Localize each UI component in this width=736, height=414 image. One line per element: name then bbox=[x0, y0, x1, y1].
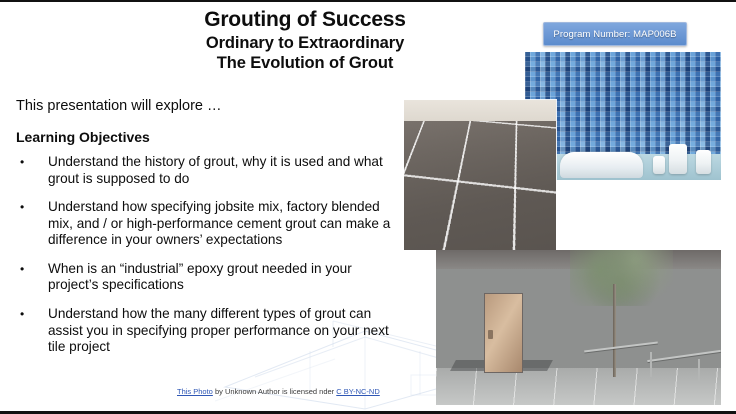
bronze-door bbox=[484, 293, 523, 373]
slide-subtitle-2: The Evolution of Grout bbox=[120, 53, 490, 74]
list-item-text: Understand how the many different types … bbox=[48, 306, 389, 354]
learning-objectives-list: • Understand the history of grout, why i… bbox=[16, 154, 396, 368]
tree-canopy bbox=[570, 250, 673, 306]
floor-tile-grid bbox=[404, 121, 556, 250]
bullet-marker-icon: • bbox=[20, 262, 24, 277]
list-item-text: When is an “industrial” epoxy grout need… bbox=[48, 261, 352, 293]
list-item: • Understand how specifying jobsite mix,… bbox=[16, 199, 396, 249]
white-jar bbox=[696, 150, 711, 174]
intro-text: This presentation will explore … bbox=[16, 98, 222, 114]
slide-title-block: Grouting of Success Ordinary to Extraord… bbox=[120, 8, 490, 74]
bullet-marker-icon: • bbox=[20, 155, 24, 170]
page-title: Grouting of Success bbox=[120, 8, 490, 33]
program-number-badge: Program Number: MAP006B bbox=[543, 22, 687, 46]
handrail-post bbox=[698, 359, 700, 384]
this-photo-link[interactable]: This Photo bbox=[177, 387, 213, 396]
white-jar bbox=[669, 144, 687, 174]
photo-attribution: This Photo by Unknown Author is licensed… bbox=[177, 387, 380, 396]
gray-floor-tile-photo bbox=[404, 100, 556, 250]
license-link[interactable]: C BY-NC-ND bbox=[336, 387, 379, 396]
handrail-post bbox=[650, 352, 652, 377]
tree-trunk bbox=[613, 284, 616, 377]
slide-subtitle-1: Ordinary to Extraordinary bbox=[120, 33, 490, 54]
paved-ground bbox=[436, 368, 721, 405]
presentation-slide: Grouting of Success Ordinary to Extraord… bbox=[0, 0, 736, 414]
white-jar bbox=[653, 156, 665, 174]
bullet-marker-icon: • bbox=[20, 200, 24, 215]
stone-facade-photo bbox=[436, 250, 721, 405]
list-item: • Understand the history of grout, why i… bbox=[16, 154, 396, 187]
bullet-marker-icon: • bbox=[20, 307, 24, 322]
attribution-text: by Unknown Author is licensed nder bbox=[213, 387, 336, 396]
list-item-text: Understand the history of grout, why it … bbox=[48, 154, 383, 186]
learning-objectives-heading: Learning Objectives bbox=[16, 129, 150, 145]
list-item-text: Understand how specifying jobsite mix, f… bbox=[48, 199, 390, 247]
list-item: • Understand how the many different type… bbox=[16, 306, 396, 356]
door-handle bbox=[488, 330, 492, 339]
rolled-towel bbox=[560, 152, 642, 178]
list-item: • When is an “industrial” epoxy grout ne… bbox=[16, 261, 396, 294]
